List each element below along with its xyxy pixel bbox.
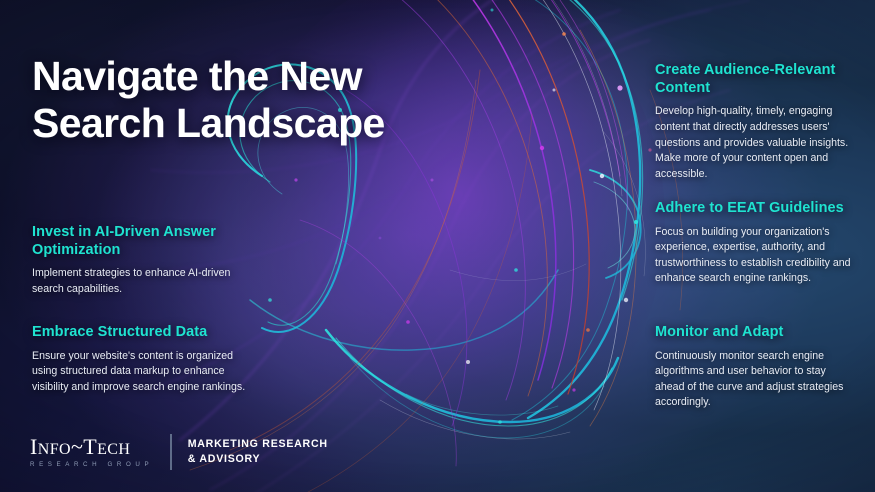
tip-body-structured-data: Ensure your website's content is organiz… xyxy=(32,349,247,396)
logo-text-nfo: NFO xyxy=(38,441,71,458)
logo-letter-i: I xyxy=(30,434,38,459)
logo-letter-t: T xyxy=(83,434,97,459)
info-tech-wordmark: INFO~TECH xyxy=(30,436,153,458)
tip-block-monitor-and-adapt: Monitor and Adapt Continuously monitor s… xyxy=(655,324,851,411)
page-title: Navigate the New Search Landscape xyxy=(32,53,452,146)
title-line-1: Navigate the New xyxy=(32,53,452,100)
tip-block-ai-answer-optimization: Invest in AI-Driven Answer Optimization … xyxy=(32,224,247,298)
info-tech-logo: INFO~TECH RESEARCH GROUP xyxy=(30,436,170,468)
logo-tagline-line-2: & ADVISORY xyxy=(188,452,328,467)
tip-heading-monitor-and-adapt: Monitor and Adapt xyxy=(655,324,851,342)
tip-body-eeat-guidelines: Focus on building your organization's ex… xyxy=(655,225,851,287)
tip-block-structured-data: Embrace Structured Data Ensure your webs… xyxy=(32,324,247,395)
tip-heading-structured-data: Embrace Structured Data xyxy=(32,324,247,342)
tip-body-audience-content: Develop high-quality, timely, engaging c… xyxy=(655,104,851,182)
infographic-slide: Navigate the New Search Landscape Invest… xyxy=(0,0,875,492)
logo-subtitle: RESEARCH GROUP xyxy=(30,462,153,468)
title-line-2: Search Landscape xyxy=(32,100,452,147)
logo-tagline: MARKETING RESEARCH & ADVISORY xyxy=(172,437,328,467)
tip-heading-audience-content: Create Audience-Relevant Content xyxy=(655,62,851,97)
logo-tagline-line-1: MARKETING RESEARCH xyxy=(188,437,328,452)
tip-heading-ai-answer-optimization: Invest in AI-Driven Answer Optimization xyxy=(32,224,247,259)
footer-logo-lockup: INFO~TECH RESEARCH GROUP MARKETING RESEA… xyxy=(30,434,328,470)
tip-body-ai-answer-optimization: Implement strategies to enhance AI-drive… xyxy=(32,266,247,297)
tip-block-eeat-guidelines: Adhere to EEAT Guidelines Focus on build… xyxy=(655,200,851,287)
logo-tilde: ~ xyxy=(71,434,83,459)
logo-text-ech: ECH xyxy=(97,441,130,458)
logo-divider xyxy=(170,434,172,470)
tip-block-audience-content: Create Audience-Relevant Content Develop… xyxy=(655,62,851,182)
tip-heading-eeat-guidelines: Adhere to EEAT Guidelines xyxy=(655,200,851,218)
tip-body-monitor-and-adapt: Continuously monitor search engine algor… xyxy=(655,349,851,411)
